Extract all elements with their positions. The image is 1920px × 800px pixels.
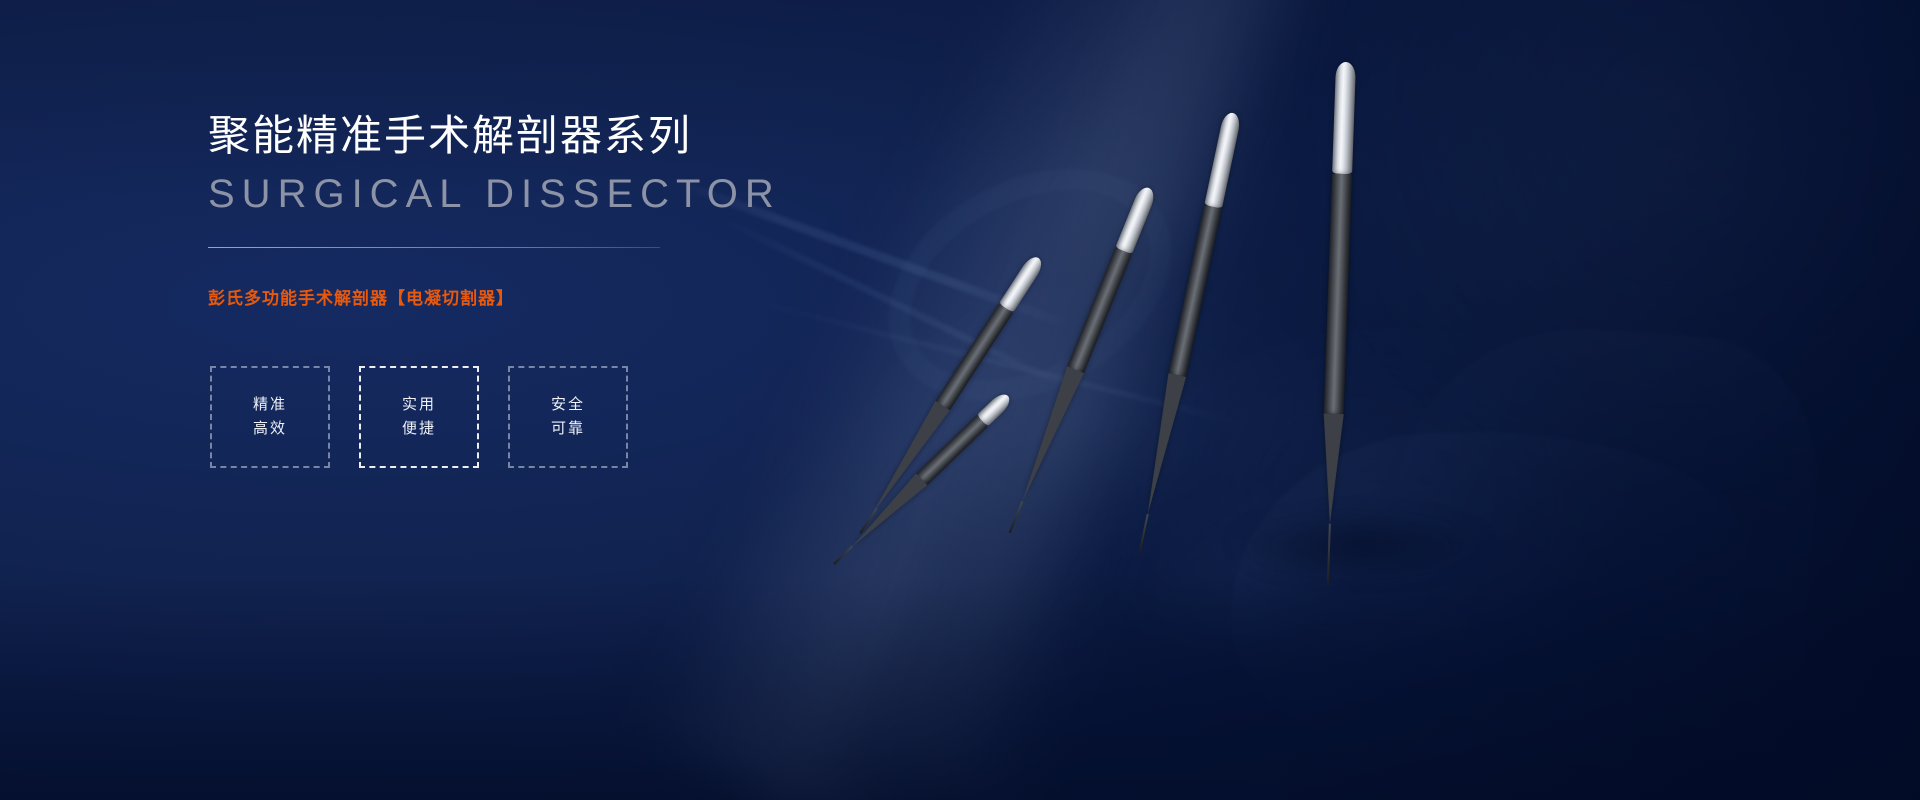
feature-badge-safety-line2: 可靠: [551, 421, 585, 438]
product-name-label: 彭氏多功能手术解剖器【电凝切割器】: [208, 284, 968, 309]
feature-badge-safety-line1: 安全: [551, 397, 585, 414]
feature-badge-practical-line2: 便捷: [402, 421, 436, 438]
feature-badge-precision-line1: 精准: [253, 397, 287, 414]
page-subtitle-english: SURGICAL DISSECTOR: [208, 171, 968, 217]
page-title: 聚能精准手术解剖器系列: [208, 110, 968, 161]
feature-badge-list: 精准 高效 实用 便捷 安全 可靠: [210, 366, 628, 468]
feature-badge-precision-line2: 高效: [253, 421, 287, 438]
feature-badge-practical-line1: 实用: [402, 397, 436, 414]
banner-text-block: 聚能精准手术解剖器系列 SURGICAL DISSECTOR 彭氏多功能手术解剖…: [208, 110, 968, 309]
feature-badge-precision[interactable]: 精准 高效: [210, 366, 330, 468]
feature-badge-practical[interactable]: 实用 便捷: [359, 366, 479, 468]
title-divider: [208, 247, 660, 248]
hero-banner: 聚能精准手术解剖器系列 SURGICAL DISSECTOR 彭氏多功能手术解剖…: [0, 0, 1920, 800]
feature-badge-safety[interactable]: 安全 可靠: [508, 366, 628, 468]
